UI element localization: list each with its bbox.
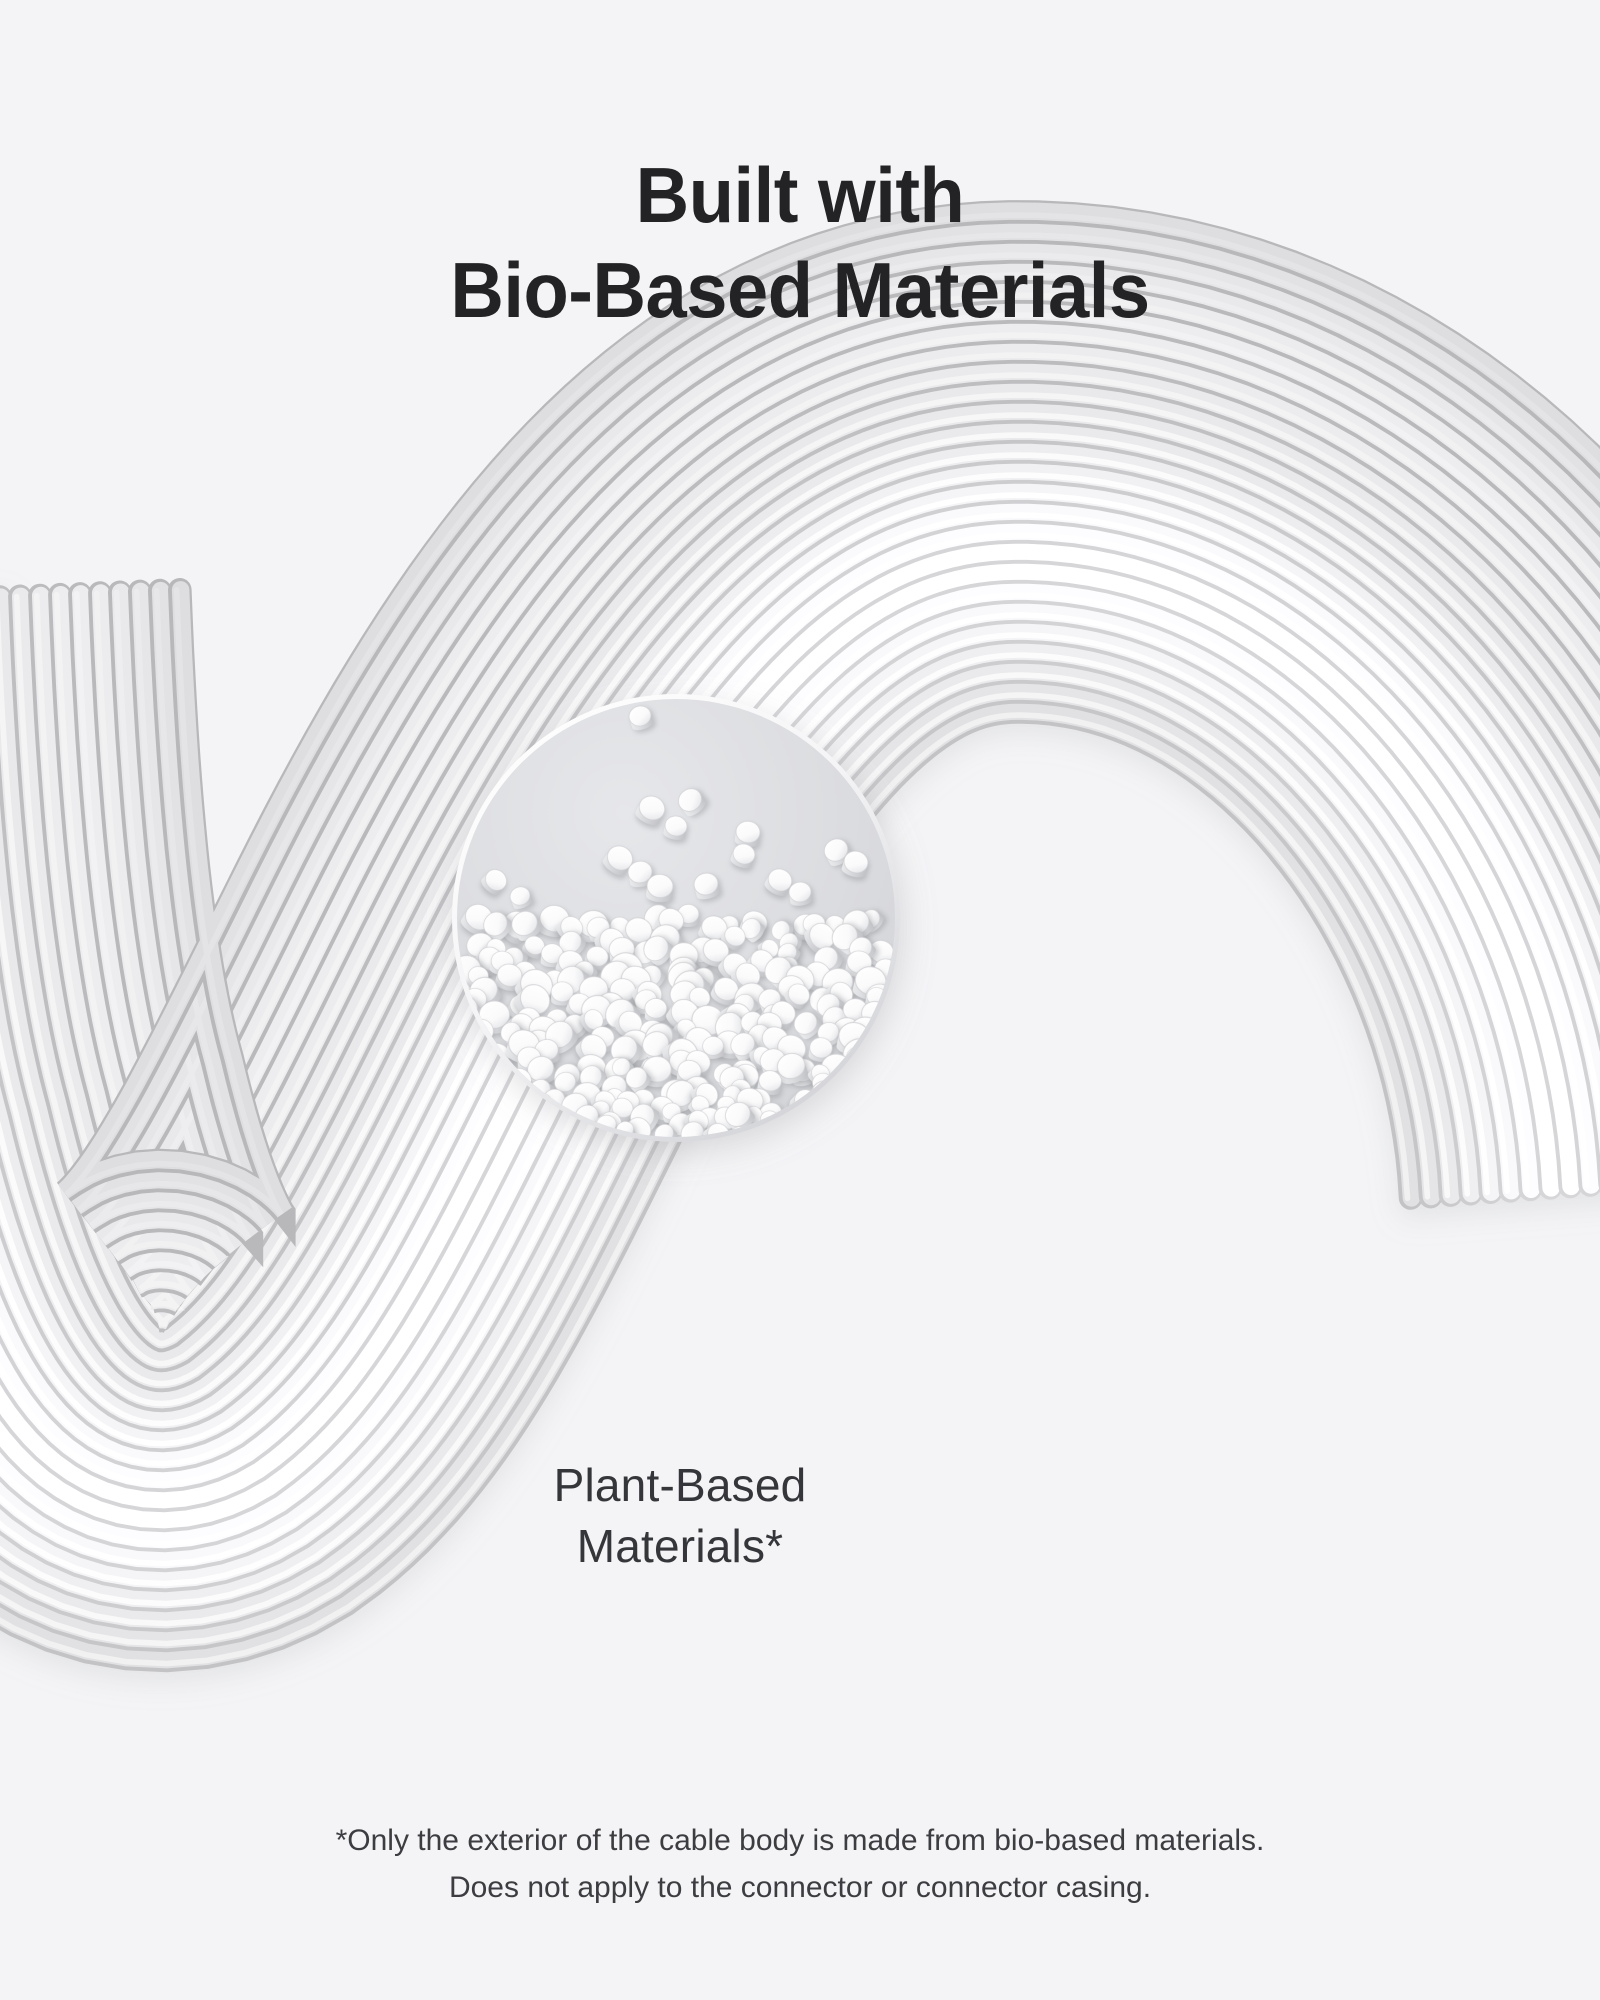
footnote-line-2: Does not apply to the connector or conne…: [100, 1865, 1500, 1912]
caption-line-2: Materials*: [400, 1516, 960, 1577]
pellet-circle-caption: Plant-Based Materials*: [400, 1455, 960, 1576]
headline-line-2: Bio-Based Materials: [40, 243, 1560, 338]
page-title: Built with Bio-Based Materials: [40, 148, 1560, 338]
caption-line-1: Plant-Based: [400, 1455, 960, 1516]
headline-line-1: Built with: [40, 148, 1560, 243]
footnote-line-1: *Only the exterior of the cable body is …: [100, 1818, 1500, 1865]
promo-graphic: Built with Bio-Based Materials Plant-Bas…: [0, 0, 1600, 2000]
footnote-disclaimer: *Only the exterior of the cable body is …: [100, 1818, 1500, 1911]
plastic-pellet: [645, 998, 667, 1021]
